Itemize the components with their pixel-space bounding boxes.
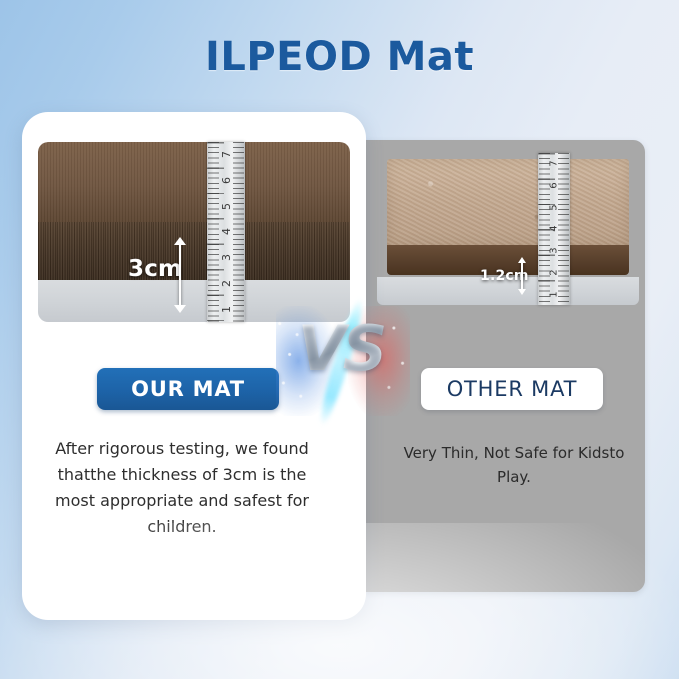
ruler-number: 7: [549, 161, 560, 167]
our-mat-description: After rigorous testing, we found thatthe…: [54, 436, 310, 540]
ruler-number: 6: [220, 177, 233, 184]
our-mat-ruler: 1 2 3 4 5 6 7: [207, 142, 245, 322]
our-mat-floor: [38, 280, 350, 322]
our-mat-surface: [38, 142, 350, 280]
page-title: ILPEOD Mat: [0, 34, 679, 80]
ruler-number: 1: [220, 306, 233, 313]
ruler-number: 2: [549, 269, 560, 275]
ruler-number: 5: [220, 203, 233, 210]
our-mat-button[interactable]: OUR MAT: [97, 368, 279, 410]
ruler-number: 5: [549, 204, 560, 210]
ruler-number: 4: [549, 226, 560, 232]
ruler-number: 3: [220, 254, 233, 261]
ruler-number: 7: [220, 151, 233, 158]
other-mat-description: Very Thin, Not Safe for Kidsto Play.: [399, 441, 629, 490]
our-mat-photo: [38, 142, 350, 322]
ruler-number: 4: [220, 228, 233, 235]
ruler-number: 6: [549, 182, 560, 188]
other-mat-surface: [387, 159, 629, 247]
our-mat-measure-arrow-icon: [179, 244, 181, 306]
ruler-number: 1: [549, 291, 560, 297]
ruler-number: 3: [549, 247, 560, 253]
other-mat-measure-arrow-icon: [521, 262, 523, 290]
other-mat-button[interactable]: OTHER MAT: [421, 368, 603, 410]
other-mat-ruler: 1 2 3 4 5 6 7: [538, 153, 570, 305]
our-mat-thickness-label: 3cm: [128, 256, 182, 282]
infographic-canvas: ILPEOD Mat 1 2 3 4 5 6 7 1.2cm 1: [0, 0, 679, 679]
ruler-numbers: 1 2 3 4 5 6 7: [538, 153, 570, 305]
ruler-numbers: 1 2 3 4 5 6 7: [207, 142, 245, 322]
ruler-number: 2: [220, 280, 233, 287]
